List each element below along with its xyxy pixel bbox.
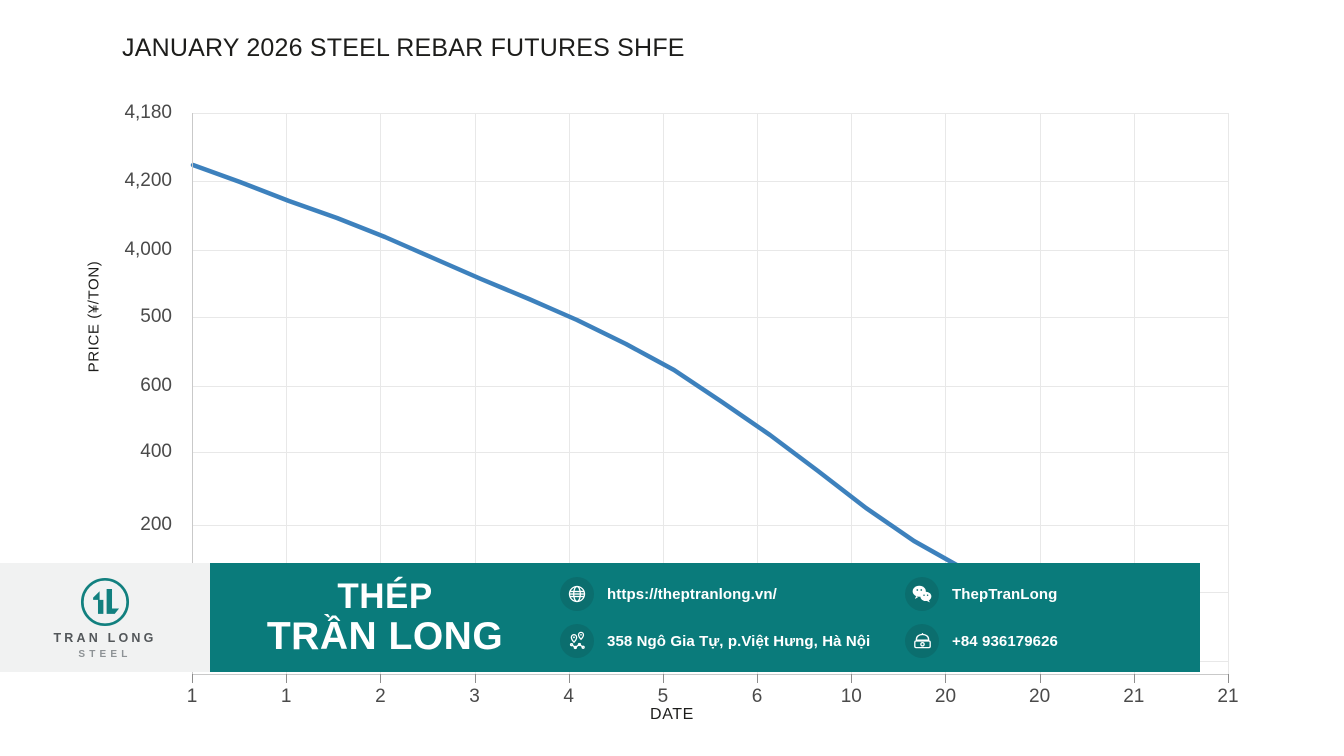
x-tick-mark: [475, 674, 476, 683]
contact-wechat[interactable]: ThepTranLong: [905, 577, 1155, 611]
x-tick-mark: [1228, 674, 1229, 683]
contact-column-right: ThepTranLong +84 936179626: [905, 577, 1155, 658]
website-url: https://theptranlong.vn/: [607, 586, 777, 603]
brand-name: THÉP TRẦN LONG: [210, 579, 560, 656]
x-axis-title: DATE: [0, 706, 1344, 724]
x-tick-label: 2: [375, 686, 386, 708]
contact-address: 358 Ngô Gia Tự, p.Việt Hưng, Hà Nội: [560, 624, 905, 658]
x-tick-mark: [569, 674, 570, 683]
x-tick-mark: [851, 674, 852, 683]
phone-number: +84 936179626: [952, 633, 1058, 650]
wechat-icon: [905, 577, 939, 611]
x-tick-mark: [663, 674, 664, 683]
address-text: 358 Ngô Gia Tự, p.Việt Hưng, Hà Nội: [607, 633, 870, 650]
x-tick-mark: [286, 674, 287, 683]
footer-teal-panel: THÉP TRẦN LONG https://theptranlon: [210, 563, 1200, 672]
tl-monogram-icon: [78, 575, 132, 629]
x-tick-label: 21: [1217, 686, 1238, 708]
gridline-vertical: [1228, 113, 1229, 674]
x-tick-label: 5: [658, 686, 669, 708]
globe-icon: [560, 577, 594, 611]
x-tick-mark: [1134, 674, 1135, 683]
logo-subtext: STEEL: [78, 649, 131, 660]
x-tick-label: 6: [752, 686, 763, 708]
company-logo: TRAN LONG STEEL: [0, 563, 210, 672]
x-tick-label: 10: [841, 686, 862, 708]
x-tick-mark: [380, 674, 381, 683]
map-pin-icon: [560, 624, 594, 658]
y-tick-label: 600: [52, 375, 172, 397]
logo-wordmark: TRAN LONG: [53, 632, 156, 645]
footer-banner: TRAN LONG STEEL THÉP TRẦN LONG: [0, 563, 1200, 672]
x-tick-mark: [1040, 674, 1041, 683]
x-tick-label: 21: [1123, 686, 1144, 708]
brand-line-1: THÉP: [210, 579, 560, 614]
y-tick-label: 500: [52, 306, 172, 328]
x-tick-label: 20: [1029, 686, 1050, 708]
brand-line-2: TRẦN LONG: [210, 617, 560, 656]
chart-page: JANUARY 2026 STEEL REBAR FUTURES SHFE PR…: [0, 0, 1344, 756]
x-tick-label: 3: [469, 686, 480, 708]
x-tick-mark: [192, 674, 193, 683]
y-tick-label: 4,000: [52, 239, 172, 261]
phone-icon: [905, 624, 939, 658]
y-tick-label: 200: [52, 514, 172, 536]
wechat-id: ThepTranLong: [952, 586, 1057, 603]
contact-phone[interactable]: +84 936179626: [905, 624, 1155, 658]
x-tick-label: 1: [281, 686, 292, 708]
y-tick-label: 4,200: [52, 170, 172, 192]
x-tick-mark: [945, 674, 946, 683]
x-tick-mark: [757, 674, 758, 683]
page-title: JANUARY 2026 STEEL REBAR FUTURES SHFE: [122, 34, 685, 63]
y-tick-label: 400: [52, 441, 172, 463]
y-tick-label: 4,180: [52, 102, 172, 124]
x-tick-label: 20: [935, 686, 956, 708]
x-tick-label: 4: [563, 686, 574, 708]
x-tick-label: 1: [187, 686, 198, 708]
contact-column-left: https://theptranlong.vn/: [560, 577, 905, 658]
contact-website[interactable]: https://theptranlong.vn/: [560, 577, 905, 611]
